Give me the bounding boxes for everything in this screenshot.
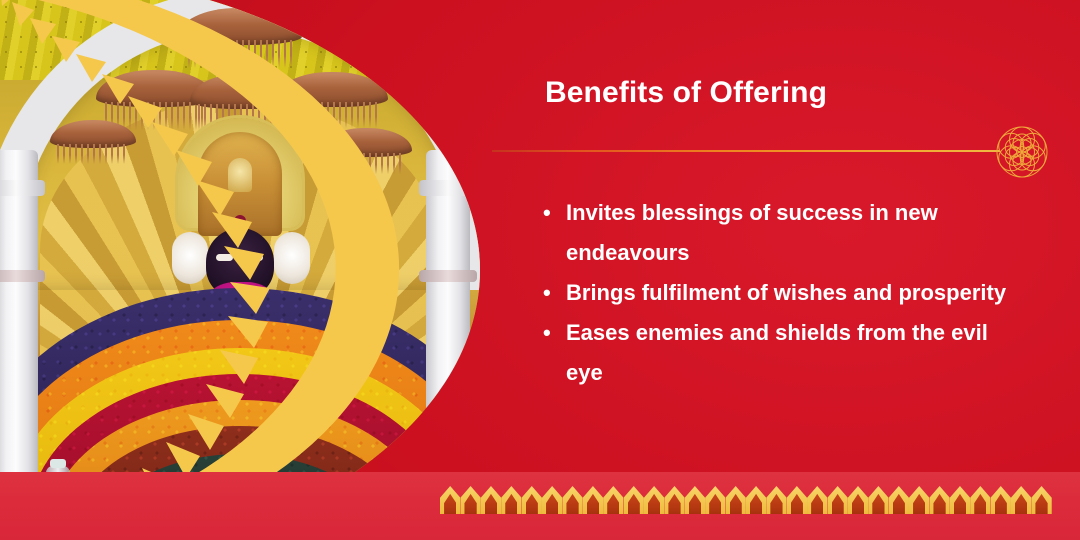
toran-arch — [624, 486, 644, 514]
toran-arch — [950, 486, 970, 514]
page-title: Benefits of Offering — [545, 76, 827, 110]
benefits-list: Invites blessings of success in new ende… — [541, 193, 1011, 393]
toran-arch — [807, 486, 827, 514]
toran-arch — [725, 486, 745, 514]
toran-arch — [787, 486, 807, 514]
toran-arch — [705, 486, 725, 514]
toran-arch — [868, 486, 888, 514]
image-clip-shape — [0, 0, 500, 540]
toran-arch — [909, 486, 929, 514]
toran-arch — [644, 486, 664, 514]
toran-arch — [481, 486, 501, 514]
list-item: Eases enemies and shields from the evil … — [541, 313, 1011, 393]
toran-arch — [1031, 486, 1051, 514]
deity-eye-right — [246, 254, 263, 261]
image-panel — [0, 0, 500, 540]
toran-arch — [522, 486, 542, 514]
toran-arch — [1011, 486, 1031, 514]
copper-umbrella-center-top — [178, 8, 302, 70]
toran-arch — [440, 486, 460, 514]
toran-arch — [766, 486, 786, 514]
gradient-divider — [492, 150, 1000, 152]
toran-arch — [685, 486, 705, 514]
toran-arch — [746, 486, 766, 514]
temple-deity-photo — [0, 0, 480, 540]
list-item: Invites blessings of success in new ende… — [541, 193, 1011, 273]
toran-arch — [827, 486, 847, 514]
toran-arch — [562, 486, 582, 514]
toran-arch — [991, 486, 1011, 514]
toran-arch — [664, 486, 684, 514]
toran-arch — [583, 486, 603, 514]
toran-arch — [929, 486, 949, 514]
copper-umbrella-far-left — [50, 120, 136, 166]
toran-arch — [970, 486, 990, 514]
toran-arch — [848, 486, 868, 514]
toran-arch — [542, 486, 562, 514]
toran-arch — [501, 486, 521, 514]
toran-arch — [603, 486, 623, 514]
deity-eye-left — [216, 254, 233, 261]
toran-arch-border — [440, 486, 1052, 514]
list-item: Brings fulfilment of wishes and prosperi… — [541, 273, 1011, 313]
copper-umbrella-far-right — [320, 128, 412, 176]
mandala-rosette-icon — [996, 126, 1048, 178]
copper-umbrella-right — [276, 72, 388, 130]
bottle-cap — [50, 459, 66, 468]
toran-arch — [460, 486, 480, 514]
toran-arch — [889, 486, 909, 514]
slide-canvas: Benefits of Offering Invites blessings o… — [0, 0, 1080, 540]
